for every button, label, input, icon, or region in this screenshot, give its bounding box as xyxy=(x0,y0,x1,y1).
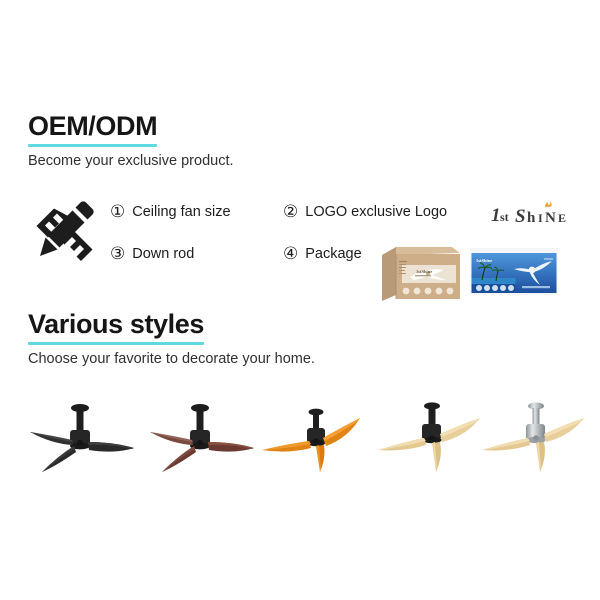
section-title: Various styles xyxy=(28,310,204,342)
oem-subheading: Become your exclusive product. xyxy=(28,153,588,170)
ceiling-fan-gallery xyxy=(0,388,600,498)
svg-text:S: S xyxy=(515,206,526,227)
svg-text:st: st xyxy=(500,210,509,224)
1stshine-logo: 1 st S h I N E xyxy=(489,200,585,228)
oem-heading-group: OEM/ODM xyxy=(28,112,157,147)
feature-item-package: ④ Package xyxy=(283,246,362,263)
feature-label: Ceiling fan size xyxy=(132,205,230,220)
svg-text:1stShine: 1stShine xyxy=(416,269,432,274)
styles-subheading: Choose your favorite to decorate your ho… xyxy=(28,351,588,368)
blue-retail-package: 1stShine xyxy=(470,248,558,295)
feature-label: LOGO exclusive Logo xyxy=(305,205,447,220)
oem-odm-section: OEM/ODM Become your exclusive product. xyxy=(28,112,588,171)
svg-text:h: h xyxy=(527,210,536,226)
feature-label: Down rod xyxy=(132,247,194,262)
kraft-carton-package: 1stShine xyxy=(382,243,460,301)
feature-item-ceiling-fan-size: ① Ceiling fan size xyxy=(110,204,231,221)
feature-number-icon: ③ xyxy=(110,246,125,263)
svg-text:1stShine: 1stShine xyxy=(476,258,492,263)
feature-item-down-rod: ③ Down rod xyxy=(110,246,194,263)
feature-label: Package xyxy=(305,247,361,262)
feature-item-logo-exclusive-logo: ② LOGO exclusive Logo xyxy=(283,204,447,221)
styles-heading-group: Various styles xyxy=(28,310,204,345)
oem-heading-underline xyxy=(28,144,157,147)
svg-text:E: E xyxy=(558,211,566,225)
feature-number-icon: ① xyxy=(110,204,125,221)
feature-number-icon: ② xyxy=(283,204,298,221)
page-title: OEM/ODM xyxy=(28,112,157,144)
various-styles-section: Various styles Choose your favorite to d… xyxy=(28,310,588,369)
ceiling-fan-orange-oak xyxy=(256,396,384,500)
styles-heading-underline xyxy=(28,342,204,345)
ceiling-fan-dark-walnut xyxy=(136,390,264,494)
ceiling-fan-black xyxy=(16,390,144,494)
pencil-ruler-design-icon xyxy=(28,200,100,272)
svg-text:I: I xyxy=(538,211,543,225)
feature-number-icon: ④ xyxy=(283,246,298,263)
svg-text:N: N xyxy=(545,210,556,226)
ceiling-fan-light-maple-chrome-motor xyxy=(480,392,600,496)
